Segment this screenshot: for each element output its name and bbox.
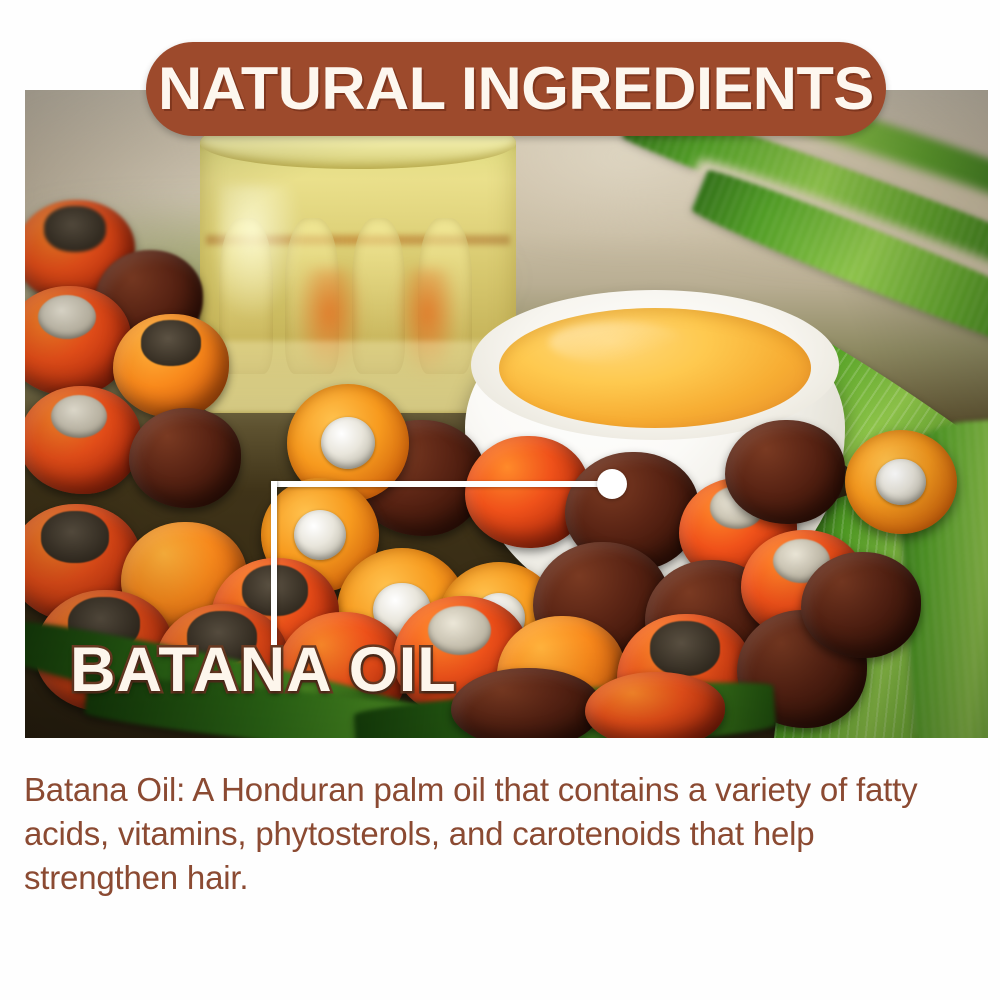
product-ingredient-card: ѳ ѳ ѳ <box>0 0 1000 1000</box>
palm-fruit <box>801 552 921 658</box>
palm-fruit <box>725 420 845 524</box>
fruit-husk <box>41 511 110 563</box>
jar-rim <box>200 135 516 169</box>
natural-ingredients-banner: NATURAL INGREDIENTS <box>146 42 886 136</box>
ingredient-description: Batana Oil: A Honduran palm oil that con… <box>24 768 976 901</box>
oil-highlight <box>549 322 686 363</box>
fruit-kernel-cap <box>38 295 96 339</box>
jar-highlight <box>219 185 301 318</box>
fruit-kernel-cap <box>51 395 107 438</box>
palm-fruit <box>451 668 601 738</box>
fruit-husk <box>650 621 721 676</box>
sliced-palm-fruit <box>845 430 957 534</box>
fruit-husk <box>141 320 201 366</box>
palm-fruit <box>585 672 725 738</box>
batana-oil-surface <box>499 308 811 428</box>
banner-title: NATURAL INGREDIENTS <box>158 59 874 119</box>
palm-kernel <box>876 459 925 505</box>
fruit-husk <box>44 206 106 252</box>
palm-fruit <box>129 408 241 508</box>
palm-fruit <box>25 386 141 494</box>
palm-fruit <box>113 314 229 418</box>
batana-oil-label: BATANA OIL <box>70 639 457 702</box>
palm-kernel <box>321 417 375 469</box>
palm-kernel <box>294 510 346 560</box>
